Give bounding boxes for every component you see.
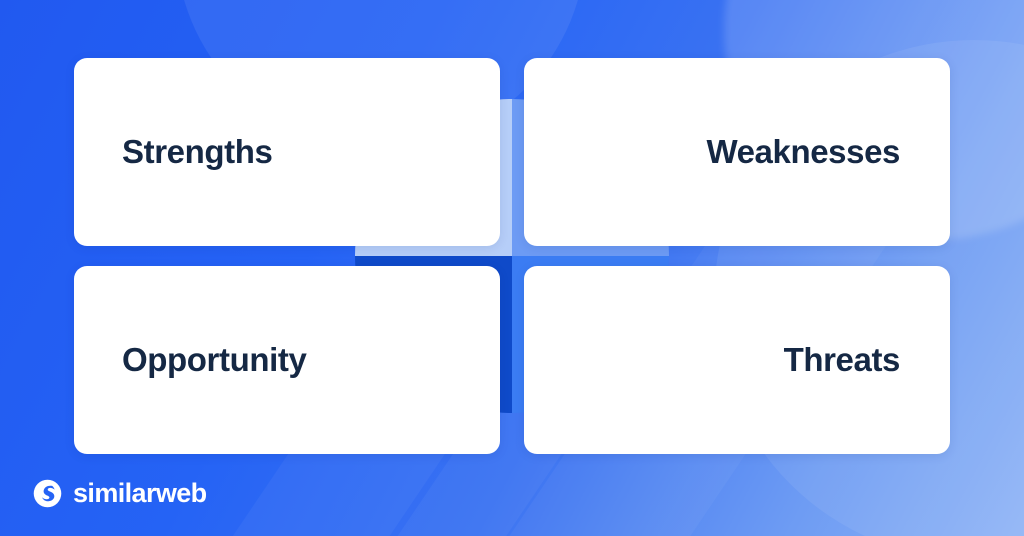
similarweb-swirl-icon — [33, 479, 62, 508]
swot-card-label-opportunity: Opportunity — [122, 341, 306, 379]
swot-card-opportunity[interactable]: Opportunity — [74, 266, 500, 454]
swot-card-label-weaknesses: Weaknesses — [706, 133, 900, 171]
swot-card-threats[interactable]: Threats — [524, 266, 950, 454]
swot-card-strengths[interactable]: Strengths — [74, 58, 500, 246]
similarweb-logo: similarweb — [33, 479, 207, 508]
swot-card-label-strengths: Strengths — [122, 133, 272, 171]
similarweb-wordmark: similarweb — [73, 480, 207, 507]
swot-card-label-threats: Threats — [784, 341, 900, 379]
swot-board: S W O T Strengths Weaknesses Opportunity… — [74, 58, 950, 454]
swot-card-weaknesses[interactable]: Weaknesses — [524, 58, 950, 246]
